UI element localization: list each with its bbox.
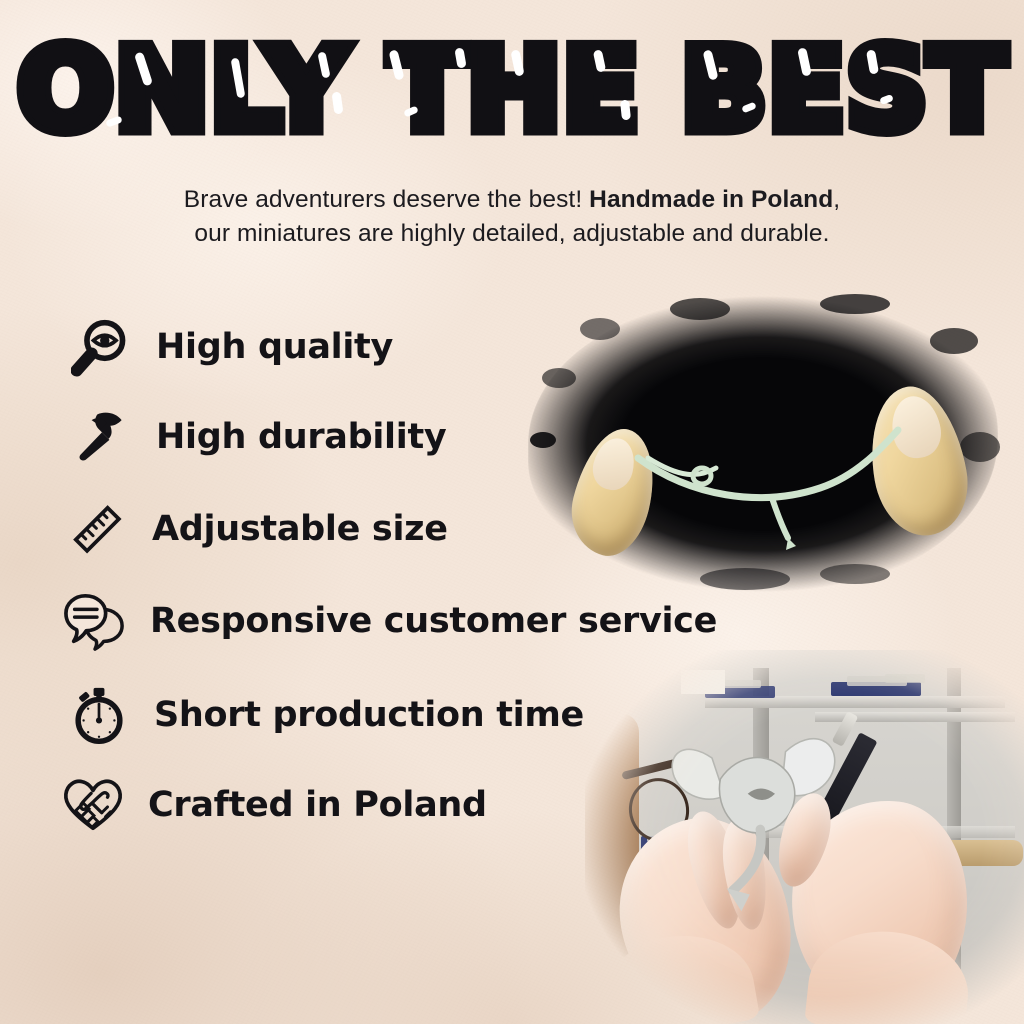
feature-item-responsive-service: Responsive customer service	[62, 588, 717, 654]
feature-label: Adjustable size	[152, 512, 448, 547]
page-title: ONLY THE BEST	[0, 34, 1024, 147]
feature-item-short-production-time: Short production time	[66, 682, 584, 748]
photo-flexible-miniature-part	[520, 282, 1024, 612]
subtitle-lead: Brave adventurers deserve the best!	[184, 186, 589, 213]
photo-workshop-hands-painting-dragon	[585, 650, 1024, 1024]
feature-label: Short production time	[154, 698, 584, 733]
promo-poster: ONLY THE BEST Brave adventurers deserve …	[0, 0, 1024, 1024]
feature-label: High durability	[156, 420, 446, 455]
feature-label: High quality	[156, 330, 393, 365]
stopwatch-icon	[66, 682, 132, 748]
speech-bubbles-icon	[62, 588, 128, 654]
magnifier-eye-icon	[68, 314, 134, 380]
hammer-icon	[68, 404, 134, 470]
subtitle-line-2: our miniatures are highly detailed, adju…	[0, 217, 1024, 251]
feature-item-high-quality: High quality	[68, 314, 393, 380]
subtitle: Brave adventurers deserve the best! Hand…	[0, 183, 1024, 251]
handshake-heart-icon	[60, 772, 126, 838]
feature-item-adjustable-size: Adjustable size	[64, 496, 448, 562]
subtitle-emphasis: Handmade in Poland	[589, 186, 833, 213]
feature-label: Crafted in Poland	[148, 788, 487, 823]
subtitle-line-1: Brave adventurers deserve the best! Hand…	[0, 183, 1024, 217]
feature-item-high-durability: High durability	[68, 404, 446, 470]
feature-item-crafted-in-poland: Crafted in Poland	[60, 772, 487, 838]
feature-label: Responsive customer service	[150, 604, 717, 639]
subtitle-comma: ,	[833, 186, 840, 213]
ruler-icon	[64, 496, 130, 562]
